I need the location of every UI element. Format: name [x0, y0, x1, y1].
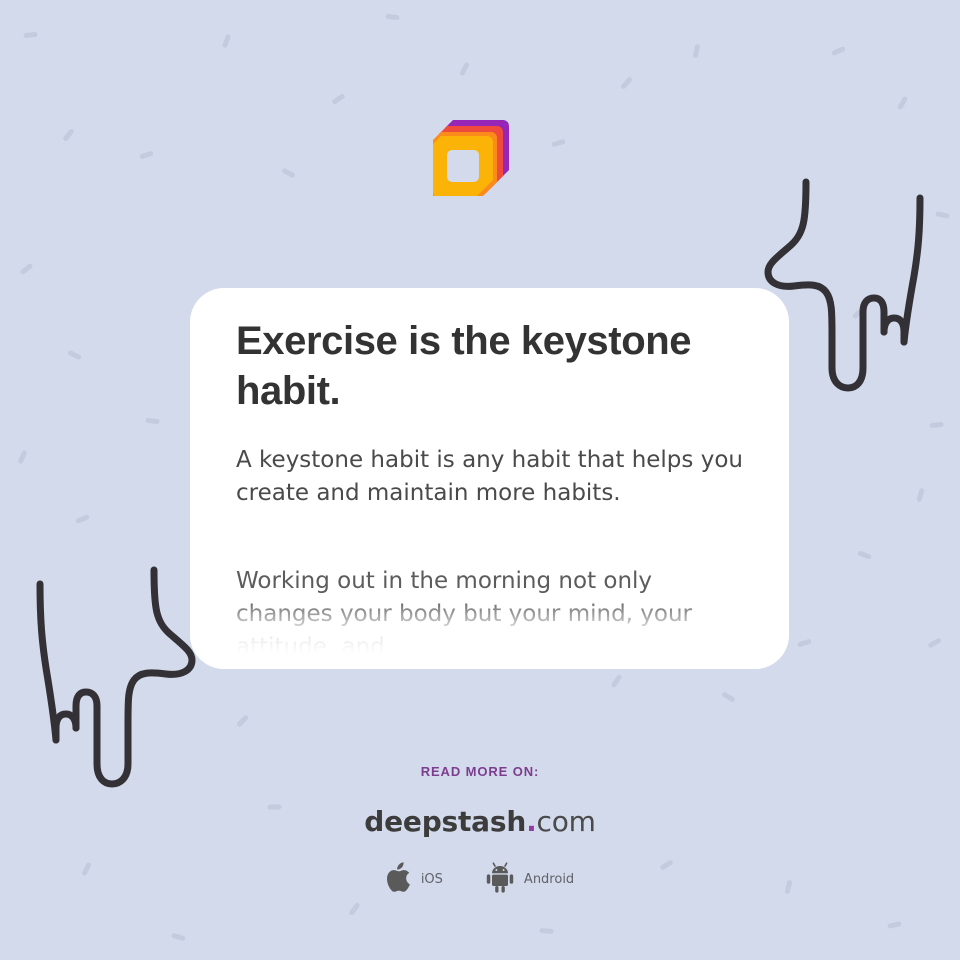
confetti-dash: [611, 674, 623, 688]
confetti-dash: [331, 93, 345, 105]
store-badge-android[interactable]: Android: [485, 862, 574, 897]
brand-name: deepstash: [364, 805, 526, 838]
store-label-ios: iOS: [421, 872, 443, 887]
page-title: Exercise is the keystone habit.: [236, 316, 745, 416]
confetti-dash: [539, 928, 553, 934]
confetti-dash: [139, 150, 154, 159]
confetti-dash: [281, 168, 296, 179]
confetti-dash: [236, 714, 249, 728]
confetti-dash: [145, 418, 159, 424]
confetti-dash: [693, 44, 701, 59]
brand-wordmark[interactable]: deepstash.com: [0, 805, 960, 838]
confetti-dash: [797, 638, 812, 647]
store-badge-ios[interactable]: iOS: [386, 862, 443, 897]
store-badges: iOS: [0, 862, 960, 897]
confetti-dash: [831, 46, 846, 56]
footer: READ MORE ON: deepstash.com iOS: [0, 764, 960, 897]
confetti-dash: [551, 139, 566, 148]
confetti-dash: [222, 34, 231, 49]
read-more-label: READ MORE ON:: [0, 764, 960, 779]
confetti-dash: [929, 422, 943, 428]
quote-card: Exercise is the keystone habit. A keysto…: [190, 288, 789, 669]
confetti-dash: [67, 350, 82, 361]
brand-dot-separator: .: [526, 805, 536, 838]
confetti-dash: [927, 637, 942, 648]
logo-cutout: [447, 150, 479, 182]
confetti-dash: [62, 128, 75, 142]
apple-icon: [386, 862, 412, 897]
confetti-dash: [348, 902, 360, 916]
confetti-dash: [17, 450, 27, 465]
confetti-dash: [887, 921, 902, 929]
confetti-dash: [171, 933, 186, 942]
confetti-dash: [75, 514, 90, 524]
confetti-dash: [620, 76, 633, 90]
confetti-dash: [852, 306, 866, 319]
confetti-dash: [19, 263, 33, 276]
confetti-dash: [857, 550, 872, 559]
card-paragraph-1: A keystone habit is any habit that helps…: [236, 416, 745, 510]
card-paragraph-2: Working out in the morning not only chan…: [236, 510, 745, 664]
brand-tld: com: [537, 805, 596, 838]
quote-card-content: Exercise is the keystone habit. A keysto…: [236, 316, 745, 664]
deepstash-logo: [425, 100, 521, 196]
confetti-dash: [23, 32, 37, 38]
confetti-dash: [385, 14, 400, 21]
confetti-dash: [916, 488, 925, 503]
confetti-dash: [897, 96, 908, 111]
confetti-dash: [459, 62, 470, 77]
android-icon: [485, 862, 515, 897]
poster-canvas: Exercise is the keystone habit. A keysto…: [0, 0, 960, 960]
confetti-dash: [935, 211, 950, 219]
confetti-dash: [721, 691, 736, 703]
store-label-android: Android: [524, 872, 574, 887]
